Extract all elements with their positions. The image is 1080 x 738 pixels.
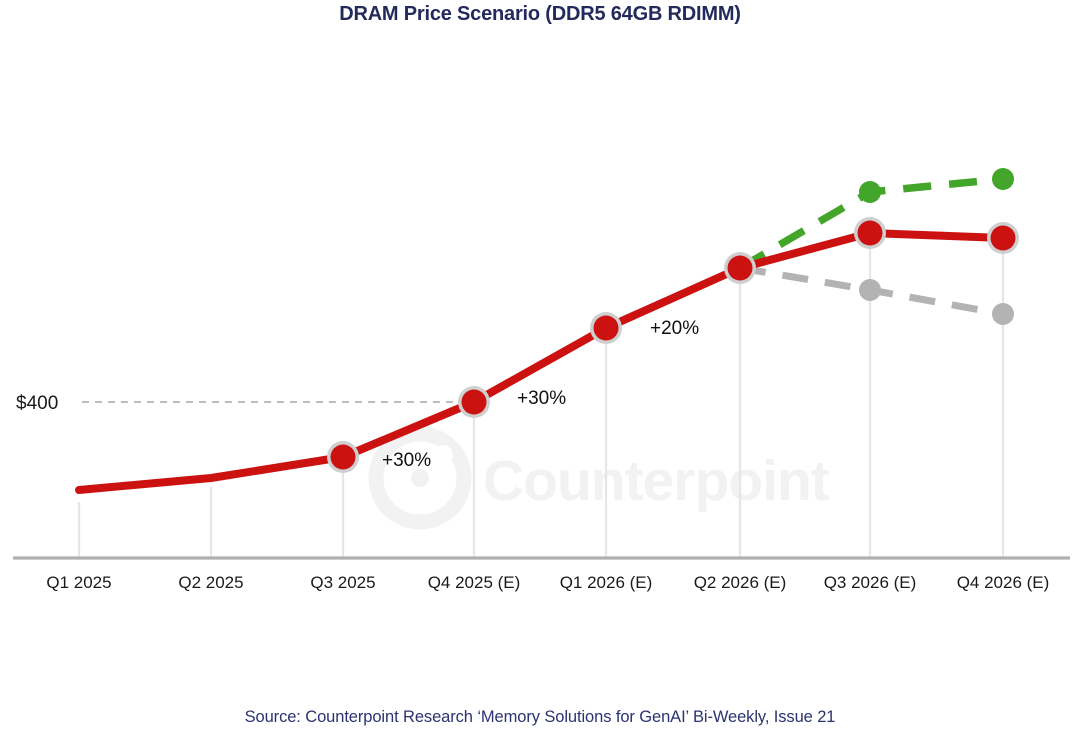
x-axis-tick-q2-2025: Q2 2025 [178, 573, 243, 592]
growth-annotation: +30% [517, 388, 566, 409]
y-axis-tick-400: $400 [16, 393, 58, 414]
series-upside-case-marker [992, 168, 1014, 190]
series-base-case-marker [858, 221, 883, 246]
growth-annotation: +30% [382, 450, 431, 471]
counterpoint-logo-icon [376, 434, 464, 522]
chart-plot-area: Counterpoint $400 [0, 0, 1080, 700]
x-axis-tick-q3-2025: Q3 2025 [310, 573, 375, 592]
series-downside-case-marker [992, 303, 1014, 325]
series-downside-case-marker [859, 279, 881, 301]
watermark: Counterpoint [376, 434, 830, 522]
series-upside-case-marker [859, 181, 881, 203]
x-axis-tick-q4-2026: Q4 2026 (E) [957, 573, 1050, 592]
series-base-case-marker [991, 226, 1016, 251]
x-axis-tick-q4-2025: Q4 2025 (E) [428, 573, 521, 592]
x-axis-tick-q2-2026: Q2 2026 (E) [694, 573, 787, 592]
series-base-case-marker [594, 316, 619, 341]
source-note: Source: Counterpoint Research ‘Memory So… [0, 708, 1080, 727]
chart-container: DRAM Price Scenario (DDR5 64GB RDIMM) Co… [0, 0, 1080, 738]
x-axis-tick-q1-2025: Q1 2025 [46, 573, 111, 592]
series-base-case-marker [728, 256, 753, 281]
x-axis-tick-q1-2026: Q1 2026 (E) [560, 573, 653, 592]
growth-annotation: +20% [650, 318, 699, 339]
series-base-case-marker [462, 390, 487, 415]
x-axis-tick-q3-2026: Q3 2026 (E) [824, 573, 917, 592]
series-base-case-marker [331, 445, 356, 470]
watermark-label: Counterpoint [483, 449, 830, 513]
